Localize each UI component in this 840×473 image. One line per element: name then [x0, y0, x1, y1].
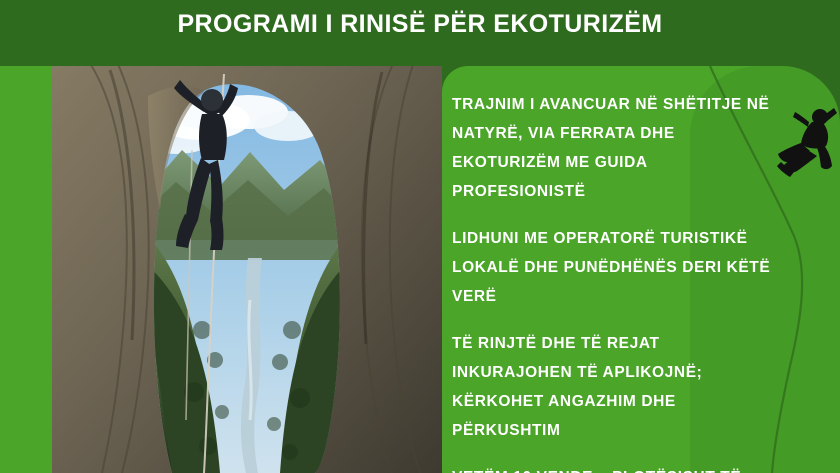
- bullet-item-1: TRAJNIM I AVANCUAR NË SHËTITJE NË NATYRË…: [452, 90, 782, 206]
- page-subtitle: PROGRAMI I RINISË PËR EKOTURIZËM: [0, 10, 840, 38]
- page-title: FLY GREEN ALPS: [0, 0, 840, 6]
- photo-artwork: [52, 0, 442, 473]
- cave-climber-photo: [52, 0, 442, 473]
- bullet-list: TRAJNIM I AVANCUAR NË SHËTITJE NË NATYRË…: [452, 90, 782, 473]
- climber-silhouette-icon: [776, 104, 840, 200]
- bullet-item-2: LIDHUNI ME OPERATORË TURISTIKË LOKALË DH…: [452, 224, 782, 311]
- poster-canvas: FLY GREEN ALPS PROGRAMI I RINISË PËR EKO…: [0, 0, 840, 473]
- bullet-item-4: VETËM 10 VENDE – PLOTËSISHT TË FINANCUAR…: [452, 463, 782, 473]
- title-block: FLY GREEN ALPS PROGRAMI I RINISË PËR EKO…: [0, 0, 840, 66]
- climber-icon-art: [776, 104, 840, 200]
- bullet-item-3: TË RINJTË DHE TË REJAT INKURAJOHEN TË AP…: [452, 329, 782, 445]
- left-green-strip: [0, 0, 52, 473]
